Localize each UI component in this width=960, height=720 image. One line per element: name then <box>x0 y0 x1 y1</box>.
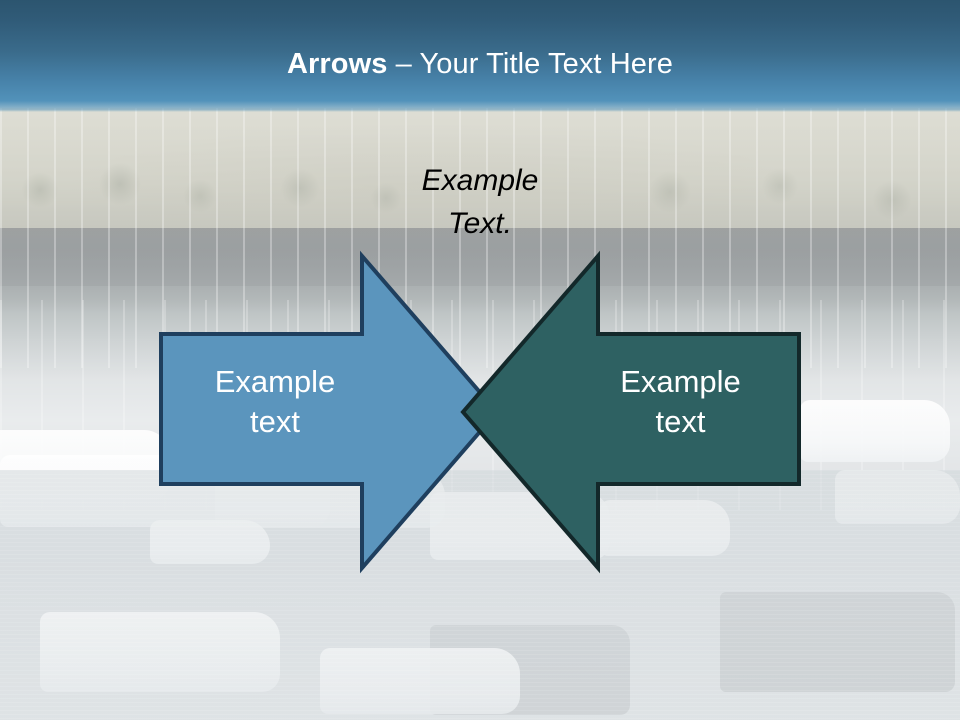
slide-canvas: Arrows – Your Title Text Here Example Te… <box>0 0 960 720</box>
left-arrow-label-line-1: Example <box>175 362 375 402</box>
arrow-shapes <box>0 0 960 720</box>
right-arrow-label-line-1: Example <box>578 362 783 402</box>
right-arrow-label: Example text <box>578 362 783 441</box>
left-arrow-label-line-2: text <box>175 402 375 442</box>
left-arrow-label: Example text <box>175 362 375 441</box>
right-arrow-label-line-2: text <box>578 402 783 442</box>
